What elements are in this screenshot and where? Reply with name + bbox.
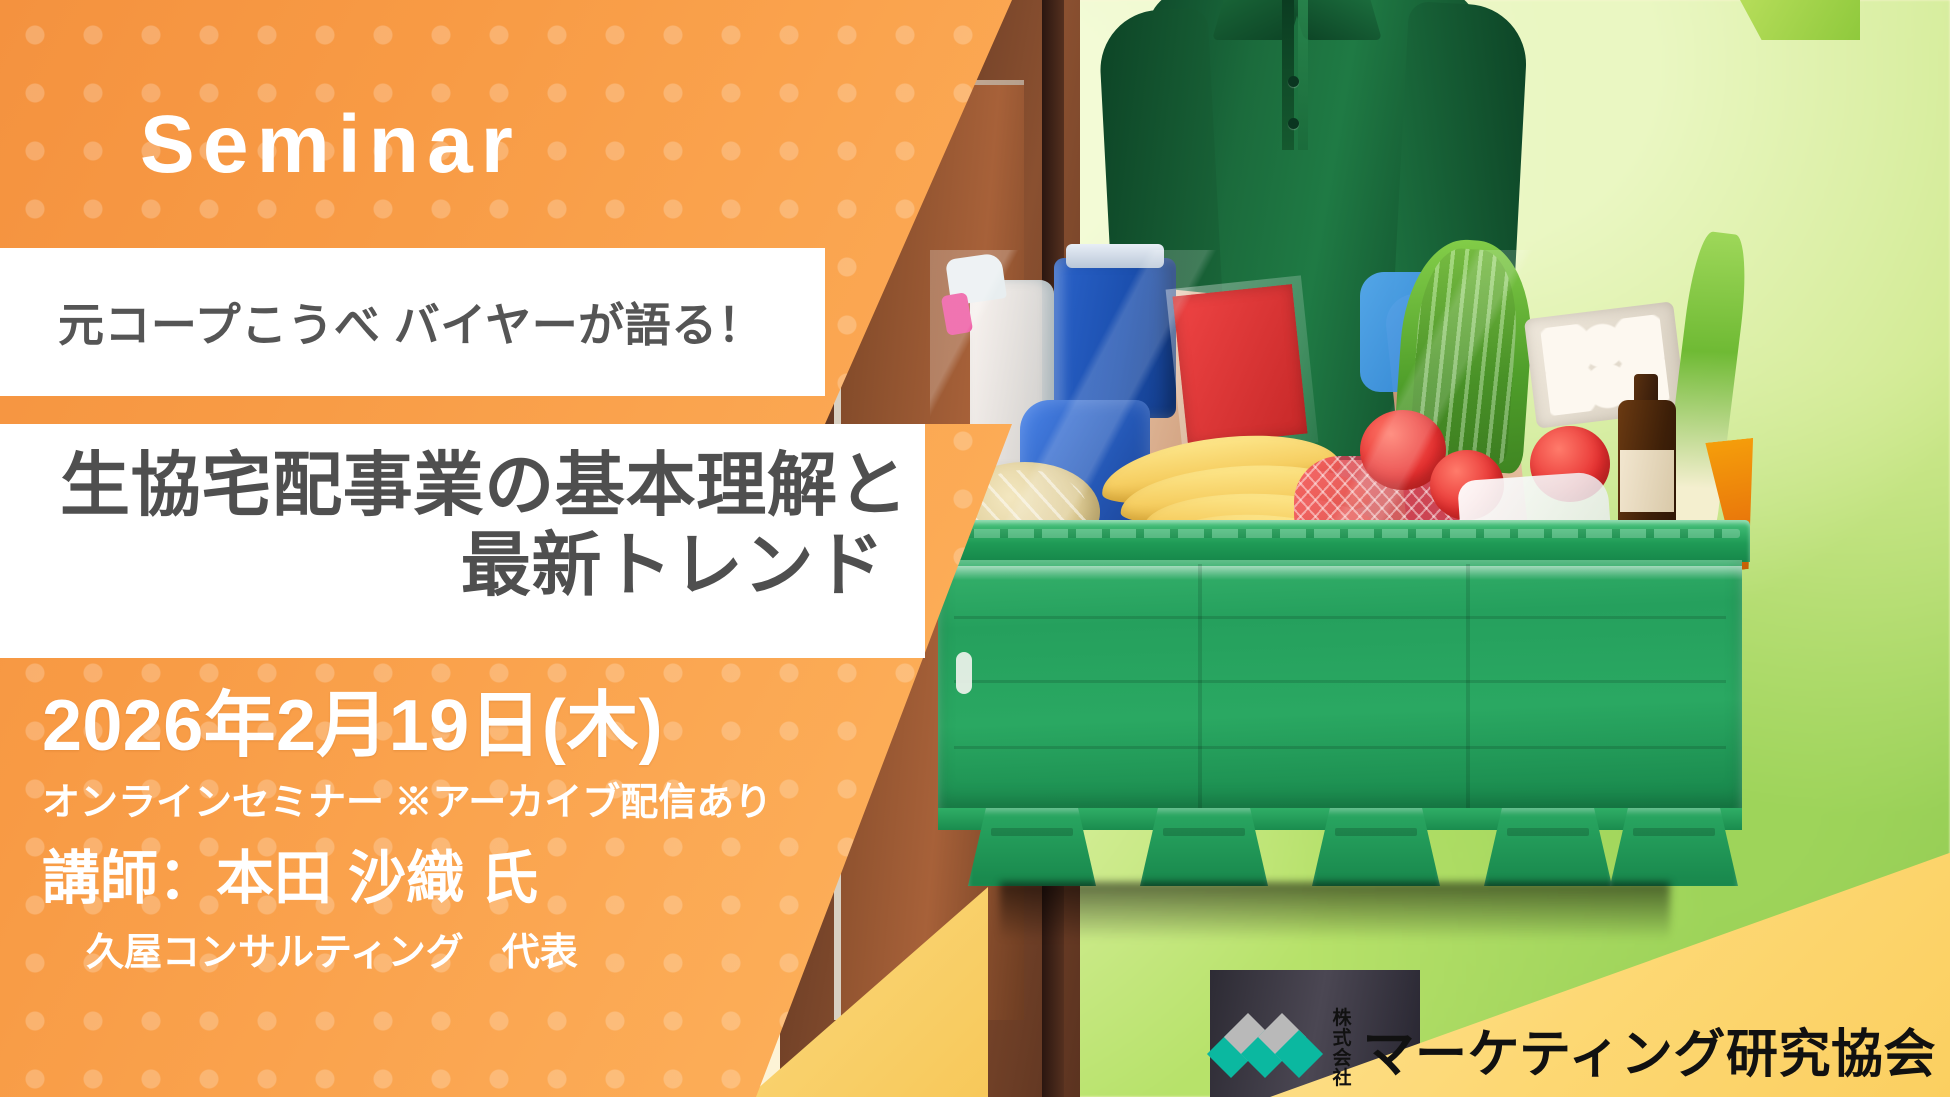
title-line-1: 生協宅配事業の基本理解と [60, 446, 885, 526]
crate-highlight [938, 566, 1742, 580]
logo-company-prefix: 株式 会社 [1332, 1009, 1358, 1089]
canister-cap [1066, 244, 1164, 268]
green-delivery-crate [930, 520, 1750, 940]
crate-rib [954, 616, 1726, 619]
lecturer-company-role: 久屋コンサルティング 代表 [86, 934, 902, 972]
crate-foot [1140, 808, 1268, 886]
crate-rib [954, 680, 1726, 683]
red-box [1172, 284, 1307, 446]
crate-shadow [1000, 882, 1670, 940]
crate-rim [930, 520, 1750, 562]
organizer-logo: 株式 会社 マーケティング研究協会 [1214, 1009, 1936, 1089]
subtitle-band: 元コープこうべ バイヤーが語る！ [0, 248, 825, 396]
crate-foot [968, 808, 1096, 886]
logo-prefix-line-2: 会社 [1332, 1049, 1358, 1089]
crate-rib [954, 746, 1726, 749]
crate-handle-slot [956, 652, 972, 694]
diamond-logo-icon [1214, 1024, 1318, 1074]
shirt-placket-edge [1298, 0, 1308, 150]
event-date: 2026年2月19日(木) [42, 690, 902, 762]
title-band: 生協宅配事業の基本理解と 最新トレンド [0, 424, 925, 658]
logo-text: 株式 会社 マーケティング研究協会 [1332, 1009, 1936, 1089]
crate-seam [1466, 564, 1470, 810]
subtitle-text: 元コープこうべ バイヤーが語る！ [58, 289, 764, 355]
bottle-label [1620, 450, 1674, 512]
grocery-items [930, 250, 1760, 550]
crate-seam [1198, 564, 1202, 810]
crate-foot [1312, 808, 1440, 886]
seminar-banner: Seminar 元コープこうべ バイヤーが語る！ 生協宅配事業の基本理解と 最新… [0, 0, 1950, 1097]
crate-foot [1484, 808, 1612, 886]
crate-foot [1610, 808, 1738, 886]
blue-canister [1054, 258, 1176, 418]
shirt-button-bottom [1288, 118, 1299, 129]
lecturer-name: 講師：本田 沙織 氏 [42, 850, 902, 908]
crate-body [938, 560, 1742, 810]
logo-company-name: マーケティング研究協会 [1362, 1012, 1936, 1087]
title-line-2: 最新トレンド [60, 526, 885, 606]
event-format: オンラインセミナー ※アーカイブ配信あり [42, 784, 902, 822]
shirt-button-top [1288, 76, 1299, 87]
seminar-eyebrow: Seminar [140, 104, 521, 186]
logo-prefix-line-1: 株式 [1332, 1009, 1358, 1049]
event-info: 2026年2月19日(木) オンラインセミナー ※アーカイブ配信あり 講師：本田… [42, 690, 902, 972]
